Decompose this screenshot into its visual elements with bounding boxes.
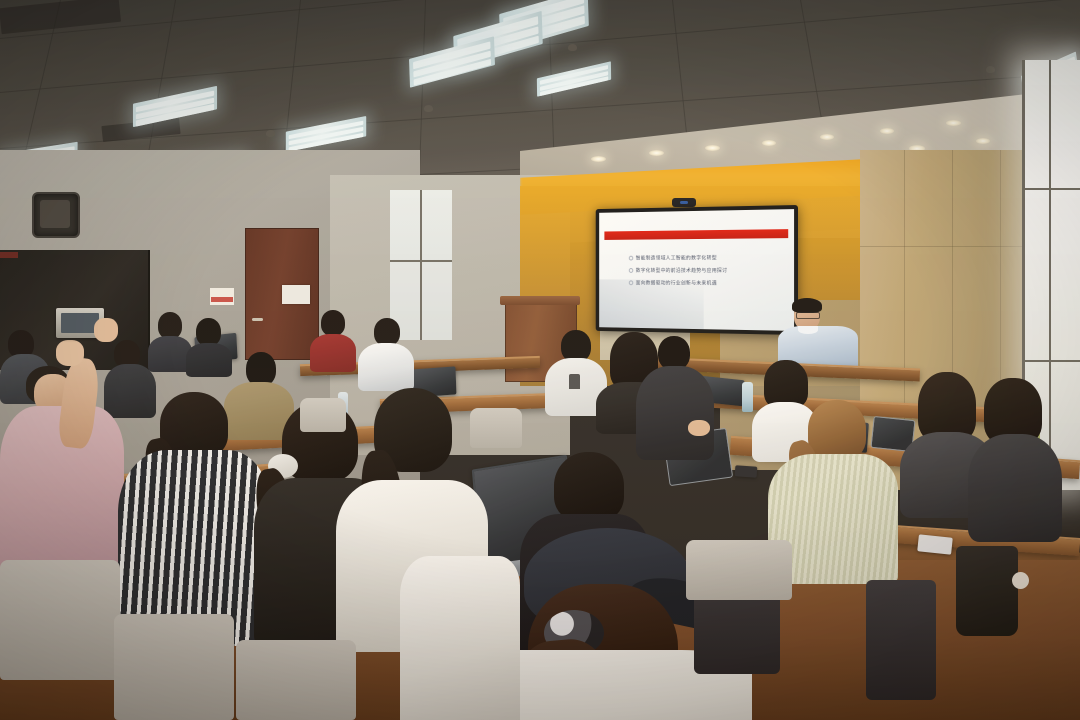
attendee-torso: [358, 343, 414, 391]
photographer-hand: [56, 340, 84, 366]
photographer-hand-right: [94, 318, 118, 342]
presenter-hair: [792, 298, 822, 313]
attendee-hair: [554, 452, 624, 522]
attendee-tablet-user: [636, 336, 714, 456]
ceiling-sensor: [986, 66, 995, 73]
attendee-torso: [310, 334, 356, 372]
clock-face: [40, 200, 70, 228]
lecture-hall-photo: 智能制造领域人工智能的数字化转型 数字化转型中的前沿技术趋势与应用探讨 面向数据…: [0, 0, 1080, 720]
attendee-head: [158, 312, 182, 339]
chair: [236, 640, 356, 720]
phone-on-desk[interactable]: [735, 465, 758, 478]
left-board-accent: [0, 252, 18, 258]
attendee-hair: [808, 400, 866, 460]
attendee-white-shirt: [358, 318, 414, 388]
attendee-torso: [636, 366, 714, 460]
ceiling-sensor: [266, 130, 275, 137]
chair: [300, 398, 346, 432]
slide-accent-bar: [605, 229, 788, 240]
slide-glare: [599, 279, 703, 329]
attendee-head: [658, 336, 690, 370]
phone-on-desk[interactable]: [917, 534, 953, 554]
attendee-head: [374, 318, 400, 346]
door-handle[interactable]: [252, 318, 263, 321]
downlight: [820, 134, 834, 140]
attendee-hand: [688, 420, 710, 436]
downlight: [976, 138, 990, 144]
ceiling-sensor: [568, 44, 577, 51]
chair: [686, 540, 792, 600]
wall-clock: [32, 192, 80, 238]
chair: [114, 614, 234, 720]
slide-bullet-item: 智能制造领域人工智能的数字化转型: [629, 254, 782, 261]
chair: [866, 580, 936, 700]
attendee-sleeve: [400, 556, 520, 720]
downlight: [946, 120, 961, 126]
attendee-head: [321, 310, 345, 336]
attendee-far-right: [968, 378, 1062, 538]
presenter-glasses: [796, 312, 820, 319]
camera-lens-icon: [680, 201, 688, 204]
attendee-head: [196, 318, 221, 346]
slide-surface: 智能制造领域人工智能的数字化转型 数字化转型中的前沿技术趋势与应用探讨 面向数据…: [599, 209, 794, 331]
bullet-point-icon: [629, 268, 633, 273]
striped-shirt-attendee: [118, 392, 270, 642]
presentation-display[interactable]: 智能制造领域人工智能的数字化转型 数字化转型中的前沿技术趋势与应用探讨 面向数据…: [596, 205, 798, 335]
wall-sign-red-text: [211, 297, 233, 302]
ceiling-sensor: [424, 105, 433, 112]
downlight: [880, 128, 894, 134]
handbag: [956, 546, 1018, 636]
slide-bullet-text: 数字化转型中的前沿技术趋势与应用探讨: [636, 267, 728, 274]
chair: [0, 560, 120, 680]
downlight: [591, 156, 606, 162]
slide-bullet-text: 智能制造领域人工智能的数字化转型: [636, 255, 717, 262]
door-notice-sign: [282, 285, 310, 304]
bag-charm: [1012, 572, 1029, 589]
attendee-red-top: [310, 310, 356, 370]
downlight: [762, 140, 776, 146]
slide-bullet-item: 数字化转型中的前沿技术趋势与应用探讨: [629, 267, 782, 274]
downlight: [705, 145, 720, 151]
chair: [470, 408, 522, 448]
shirt-letter-print: [569, 374, 580, 389]
foreground-left-attendee: [400, 556, 520, 720]
attendee-head: [246, 352, 276, 386]
presenter-collar: [798, 326, 818, 334]
downlight: [649, 150, 664, 156]
attendee-torso: [968, 434, 1062, 542]
lectern-top: [500, 296, 580, 305]
bullet-point-icon: [629, 256, 633, 261]
